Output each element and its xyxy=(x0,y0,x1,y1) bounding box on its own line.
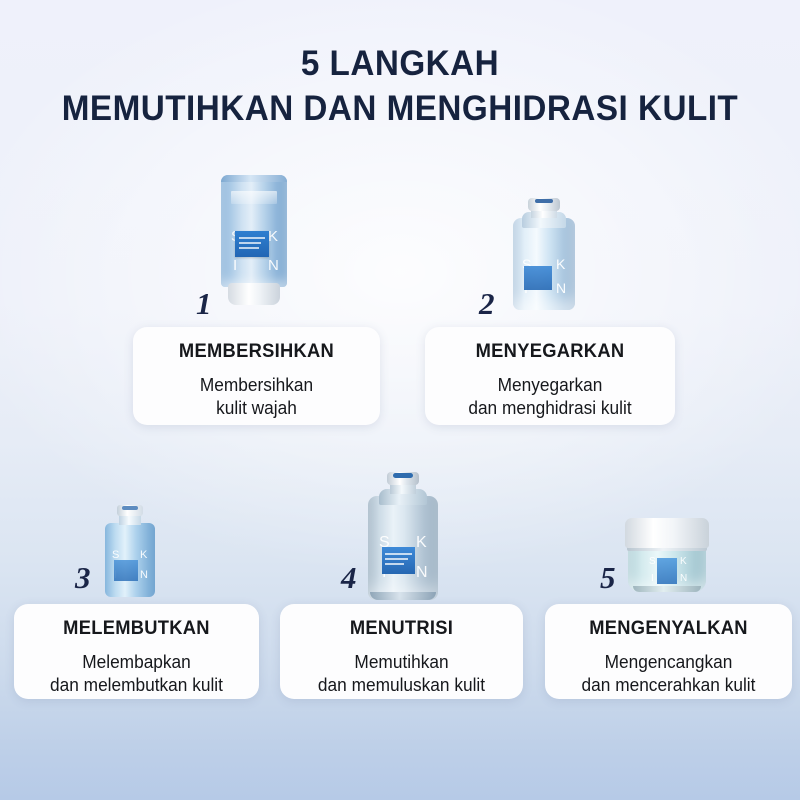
step-description-2-line-2: dan menghidrasi kulit xyxy=(430,397,670,420)
bottle-label xyxy=(114,560,138,581)
step-card-4[interactable]: MENUTRISI Memutihkan dan memuluskan kuli… xyxy=(280,604,523,699)
step-number-3: 3 xyxy=(75,562,91,593)
product-image-face-cleanser-tube: S K I N xyxy=(221,175,287,305)
bottle-base xyxy=(370,592,436,600)
tube-label xyxy=(235,231,269,257)
jar-lid xyxy=(625,518,709,548)
bottle-label xyxy=(524,266,552,290)
step-heading-1: MEMBERSIHKAN xyxy=(140,340,372,363)
step-description-1-line-1: Membersihkan xyxy=(138,374,375,397)
infographic-canvas: 5 LANGKAH MEMUTIHKAN DAN MENGHIDRASI KUL… xyxy=(0,0,800,800)
step-card-1[interactable]: MEMBERSIHKAN Membersihkan kulit wajah xyxy=(133,327,380,425)
step-description-1: Membersihkan kulit wajah xyxy=(138,374,375,421)
step-number-2: 2 xyxy=(479,288,495,319)
step-description-4: Memutihkan dan memuluskan kulit xyxy=(285,651,518,698)
product-image-serum-bottle: S K I N xyxy=(368,472,438,600)
step-description-2: Menyegarkan dan menghidrasi kulit xyxy=(430,374,670,421)
step-description-5-line-1: Mengencangkan xyxy=(550,651,787,674)
tube-cap xyxy=(228,283,280,305)
title-line-1: 5 LANGKAH xyxy=(20,44,780,83)
page-title: 5 LANGKAH MEMUTIHKAN DAN MENGHIDRASI KUL… xyxy=(0,44,800,128)
step-number-4: 4 xyxy=(341,562,357,593)
step-description-4-line-2: dan memuluskan kulit xyxy=(285,674,518,697)
tube-seam xyxy=(221,175,287,182)
step-description-5-line-2: dan mencerahkan kulit xyxy=(550,674,787,697)
step-heading-5: MENGENYALKAN xyxy=(552,617,784,640)
step-description-1-line-2: kulit wajah xyxy=(138,397,375,420)
bottle-glass xyxy=(513,218,575,310)
step-number-1: 1 xyxy=(196,288,212,319)
step-card-5[interactable]: MENGENYALKAN Mengencangkan dan mencerahk… xyxy=(545,604,792,699)
step-heading-2: MENYEGARKAN xyxy=(433,340,668,363)
step-description-2-line-1: Menyegarkan xyxy=(430,374,670,397)
bottle-label xyxy=(382,547,415,574)
step-description-3-line-1: Melembapkan xyxy=(19,651,254,674)
step-heading-4: MENUTRISI xyxy=(287,617,515,640)
tube-top-text xyxy=(231,191,277,204)
bottle-cap-accent xyxy=(122,506,138,510)
bottle-cap-accent xyxy=(535,199,553,203)
product-image-essence-bottle: S K I N xyxy=(105,505,155,597)
step-description-3-line-2: dan melembutkan kulit xyxy=(19,674,254,697)
step-heading-3: MELEMBUTKAN xyxy=(21,617,251,640)
step-description-5: Mengencangkan dan mencerahkan kulit xyxy=(550,651,787,698)
step-description-3: Melembapkan dan melembutkan kulit xyxy=(19,651,254,698)
product-image-cream-jar: S K I N xyxy=(625,518,709,592)
step-card-2[interactable]: MENYEGARKAN Menyegarkan dan menghidrasi … xyxy=(425,327,675,425)
title-line-2: MEMUTIHKAN DAN MENGHIDRASI KULIT xyxy=(20,89,780,128)
step-number-5: 5 xyxy=(600,562,616,593)
jar-label xyxy=(657,558,677,584)
jar-base xyxy=(633,586,701,592)
step-description-4-line-1: Memutihkan xyxy=(285,651,518,674)
bottle-cap-accent xyxy=(393,473,413,478)
product-image-toner-bottle: S K I N xyxy=(513,198,575,310)
step-card-3[interactable]: MELEMBUTKAN Melembapkan dan melembutkan … xyxy=(14,604,259,699)
